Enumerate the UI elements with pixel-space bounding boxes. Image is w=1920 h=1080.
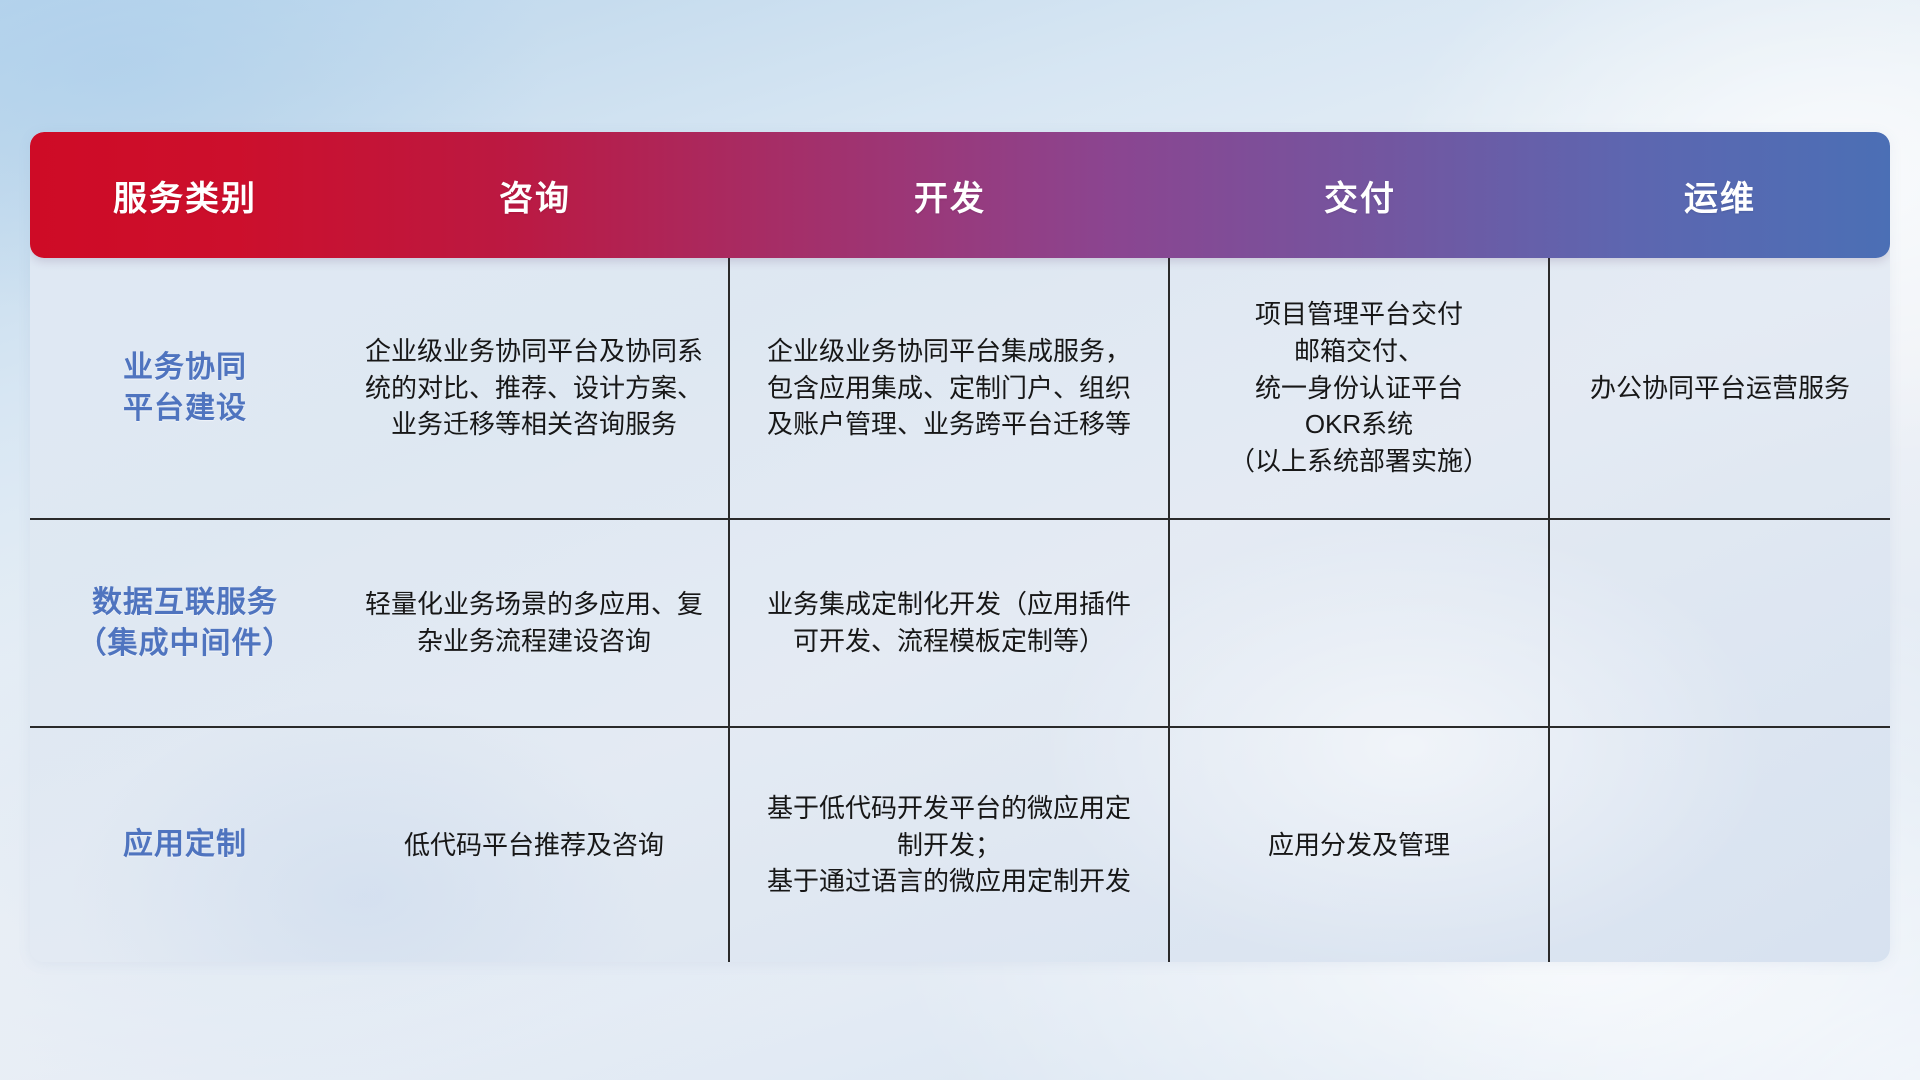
cell-consulting: 低代码平台推荐及咨询 xyxy=(340,728,730,962)
table-header-row: 服务类别 咨询 开发 交付 运维 xyxy=(30,132,1890,258)
column-header-consulting-label: 咨询 xyxy=(499,171,571,220)
cell-operations xyxy=(1550,520,1890,726)
table-row: 数据互联服务 （集成中间件） 轻量化业务场景的多应用、复 杂业务流程建设咨询 业… xyxy=(30,520,1890,728)
cell-consulting: 轻量化业务场景的多应用、复 杂业务流程建设咨询 xyxy=(340,520,730,726)
service-matrix-table: 服务类别 咨询 开发 交付 运维 业务协同 平台建设 企业级业务协同平台及协同系… xyxy=(30,132,1890,962)
cell-operations xyxy=(1550,728,1890,962)
row-category-label: 应用定制 xyxy=(30,728,340,962)
cell-development: 业务集成定制化开发（应用插件 可开发、流程模板定制等） xyxy=(730,520,1170,726)
column-header-delivery-label: 交付 xyxy=(1324,171,1396,220)
table-row: 应用定制 低代码平台推荐及咨询 基于低代码开发平台的微应用定 制开发； 基于通过… xyxy=(30,728,1890,962)
column-header-delivery: 交付 xyxy=(1170,132,1550,258)
cell-development: 企业级业务协同平台集成服务， 包含应用集成、定制门户、组织 及账户管理、业务跨平… xyxy=(730,258,1170,518)
row-category-label: 数据互联服务 （集成中间件） xyxy=(30,520,340,726)
table-body: 业务协同 平台建设 企业级业务协同平台及协同系 统的对比、推荐、设计方案、 业务… xyxy=(30,258,1890,962)
column-header-category-label: 服务类别 xyxy=(113,171,257,220)
cell-delivery: 项目管理平台交付 邮箱交付、 统一身份认证平台 OKR系统 （以上系统部署实施） xyxy=(1170,258,1550,518)
table-row: 业务协同 平台建设 企业级业务协同平台及协同系 统的对比、推荐、设计方案、 业务… xyxy=(30,258,1890,520)
column-header-operations: 运维 xyxy=(1550,132,1890,258)
column-header-development: 开发 xyxy=(730,132,1170,258)
column-header-consulting: 咨询 xyxy=(340,132,730,258)
column-header-operations-label: 运维 xyxy=(1684,171,1756,220)
cell-operations: 办公协同平台运营服务 xyxy=(1550,258,1890,518)
column-header-development-label: 开发 xyxy=(914,171,986,220)
cell-delivery: 应用分发及管理 xyxy=(1170,728,1550,962)
column-header-category: 服务类别 xyxy=(30,132,340,258)
cell-development: 基于低代码开发平台的微应用定 制开发； 基于通过语言的微应用定制开发 xyxy=(730,728,1170,962)
row-category-label: 业务协同 平台建设 xyxy=(30,258,340,518)
cell-delivery xyxy=(1170,520,1550,726)
cell-consulting: 企业级业务协同平台及协同系 统的对比、推荐、设计方案、 业务迁移等相关咨询服务 xyxy=(340,258,730,518)
